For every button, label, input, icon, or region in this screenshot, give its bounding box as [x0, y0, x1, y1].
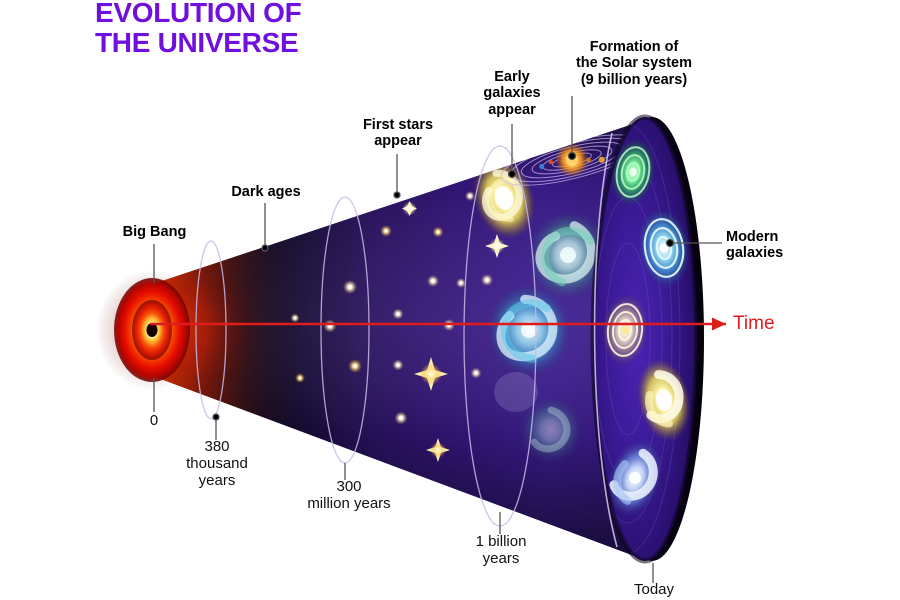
- label-solar-system: Formation of the Solar system (9 billion…: [563, 39, 705, 88]
- early-galaxy-pale: [494, 372, 538, 412]
- label-first-stars: First stars appear: [340, 117, 456, 150]
- marker-380-thousand-years: 380 thousand years: [174, 439, 260, 490]
- label-early-galaxies: Early galaxies appear: [466, 69, 558, 118]
- marker-1-billion-years: 1 billion years: [455, 534, 547, 568]
- label-dark-ages: Dark ages: [211, 184, 321, 200]
- diagram-canvas: EVOLUTION OF THE UNIVERSE Big Bang Dark …: [0, 0, 900, 600]
- label-big-bang: Big Bang: [107, 224, 202, 240]
- marker-300-million-years: 300 million years: [289, 479, 409, 513]
- time-arrowhead: [712, 318, 726, 331]
- label-modern-galaxies: Modern galaxies: [726, 229, 818, 262]
- page-title: EVOLUTION OF THE UNIVERSE: [95, 0, 301, 58]
- label-time-axis: Time: [733, 313, 803, 334]
- universe-cone-illustration: [0, 0, 900, 600]
- marker-zero: 0: [139, 413, 169, 430]
- big-bang: [96, 270, 208, 390]
- marker-today: Today: [611, 582, 697, 599]
